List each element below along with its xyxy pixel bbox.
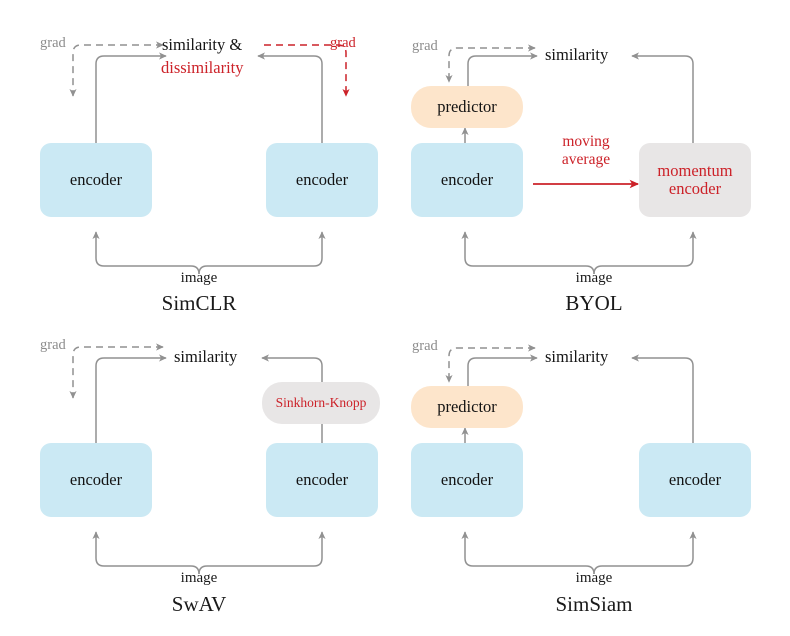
simclr-objective-dissimilarity-label: dissimilarity xyxy=(161,58,244,78)
byol-predictor-box[interactable] xyxy=(411,86,523,128)
swav-right-encoder-box[interactable] xyxy=(266,443,378,517)
swav-left-encoder-box[interactable] xyxy=(40,443,152,517)
simsiam-right-encoder-box[interactable] xyxy=(639,443,751,517)
byol-objective-label: similarity xyxy=(545,45,608,65)
byol-grad-label: grad xyxy=(412,38,438,55)
simclr-left-grad-label: grad xyxy=(40,35,66,52)
byol-momentum-encoder-box[interactable] xyxy=(639,143,751,217)
simsiam-objective-label: similarity xyxy=(545,347,608,367)
simclr-objective-similarity-label: similarity & xyxy=(162,35,242,55)
swav-objective-label: similarity xyxy=(174,347,237,367)
connector-layer xyxy=(0,0,790,636)
simsiam-predictor-box[interactable] xyxy=(411,386,523,428)
byol-encoder-box[interactable] xyxy=(411,143,523,217)
simsiam-grad-label: grad xyxy=(412,338,438,355)
figure-canvas: grad grad similarity & dissimilarity enc… xyxy=(0,0,790,636)
simclr-right-grad-label: grad xyxy=(330,35,356,52)
swav-grad-label: grad xyxy=(40,337,66,354)
simsiam-left-encoder-box[interactable] xyxy=(411,443,523,517)
swav-sinkhorn-knopp-box[interactable] xyxy=(262,382,380,424)
simclr-right-encoder-box[interactable] xyxy=(266,143,378,217)
simclr-left-encoder-box[interactable] xyxy=(40,143,152,217)
